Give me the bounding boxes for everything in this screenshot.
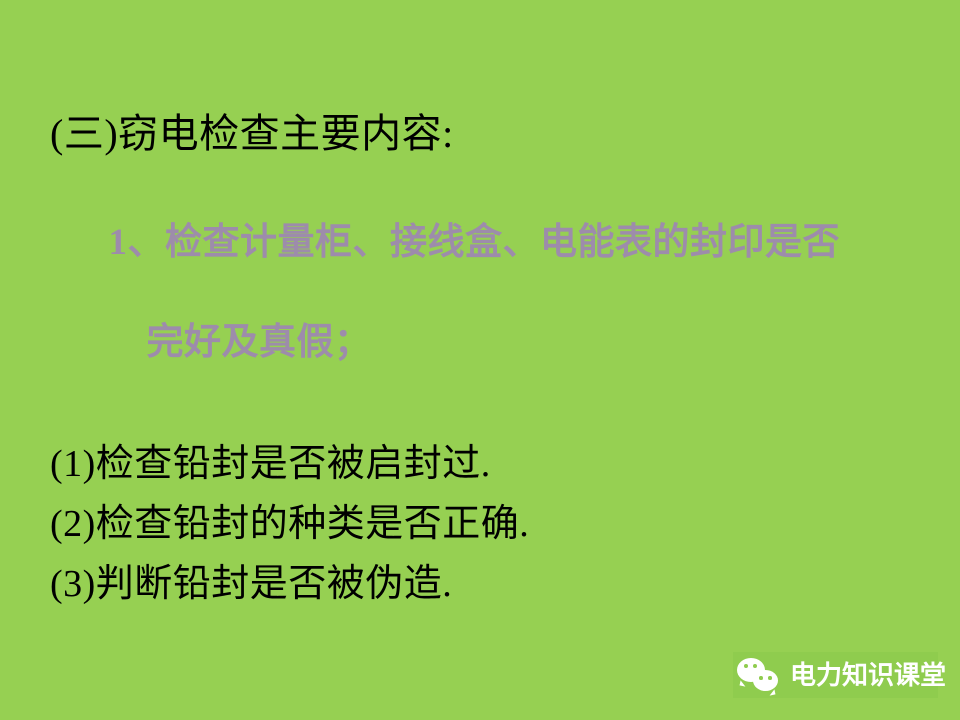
sub-item-1: (1)检查铅封是否被启封过. (50, 434, 930, 494)
slide-heading: (三)窃电检查主要内容: (50, 106, 930, 162)
slide-body: (三)窃电检查主要内容: 1、检查计量柜、接线盒、电能表的封印是否 完好及真假；… (50, 106, 930, 614)
wechat-icon (737, 658, 781, 692)
wechat-eye-3 (759, 676, 763, 680)
wechat-account-name: 电力知识课堂 (790, 660, 946, 690)
wechat-eye-1 (744, 664, 748, 668)
wechat-eye-2 (753, 664, 757, 668)
faded-list-item: 1、检查计量柜、接线盒、电能表的封印是否 完好及真假； (50, 168, 930, 418)
wechat-bubble-small (753, 670, 778, 691)
slide-canvas: (三)窃电检查主要内容: 1、检查计量柜、接线盒、电能表的封印是否 完好及真假；… (0, 0, 960, 720)
sub-item-3: (3)判断铅封是否被伪造. (50, 554, 930, 614)
wechat-eye-4 (768, 676, 772, 680)
wechat-watermark: 电力知识课堂 (733, 652, 938, 698)
faded-list-item-line1: 1、检查计量柜、接线盒、电能表的封印是否 (109, 222, 841, 263)
faded-list-item-line2: 完好及真假； (147, 322, 372, 363)
sub-item-2: (2)检查铅封的种类是否正确. (50, 494, 930, 554)
